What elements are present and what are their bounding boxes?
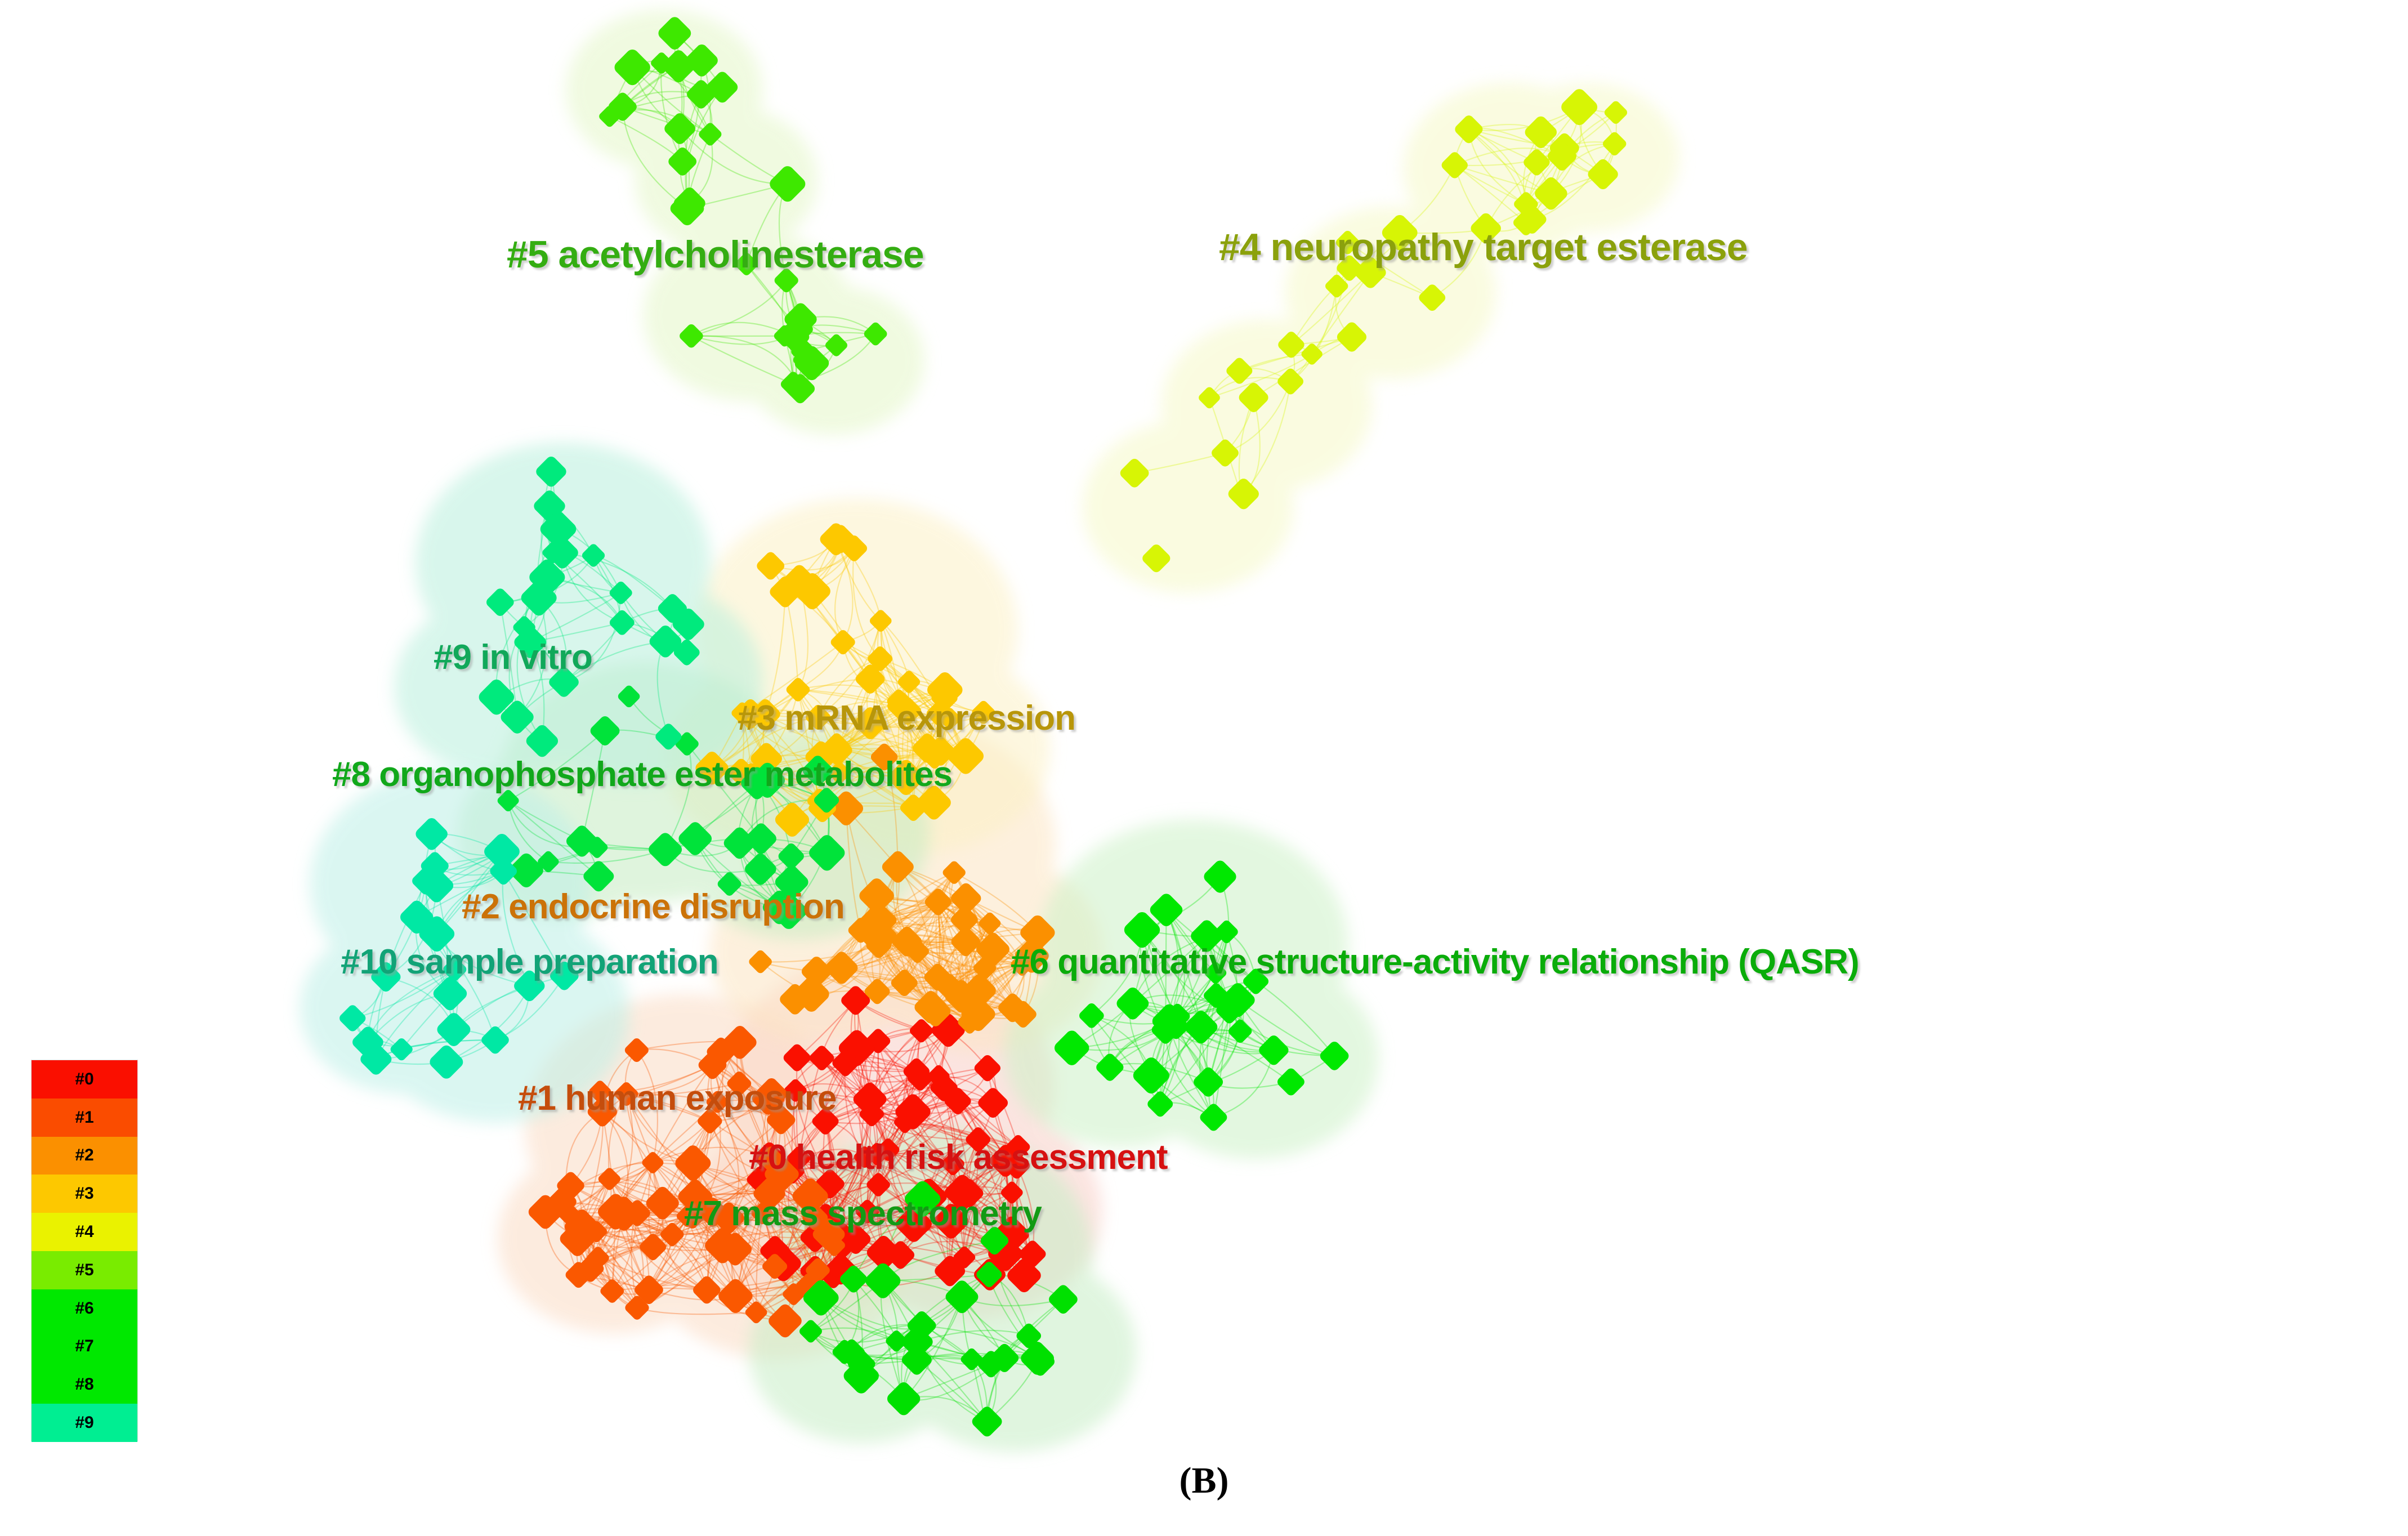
cluster-color-legend: #0#1#2#3#4#5#6#7#8#9 [31,1060,138,1441]
legend-item-label: #7 [75,1338,93,1355]
figure-caption: (B) [0,1459,2408,1502]
cluster-hull-9 [394,443,763,785]
legend-item-cluster-9[interactable]: #9 [32,1404,137,1442]
legend-item-cluster-6[interactable]: #6 [32,1289,137,1328]
legend-item-label: #4 [75,1224,93,1240]
legend-item-cluster-1[interactable]: #1 [32,1099,137,1137]
legend-item-label: #0 [75,1071,93,1088]
legend-item-cluster-5[interactable]: #5 [32,1251,137,1289]
legend-item-label: #5 [75,1262,93,1279]
legend-item-cluster-3[interactable]: #3 [32,1175,137,1213]
legend-item-cluster-0[interactable]: #0 [32,1060,137,1099]
legend-item-label: #8 [75,1376,93,1393]
legend-item-label: #9 [75,1414,93,1431]
legend-item-cluster-2[interactable]: #2 [32,1137,137,1175]
legend-item-label: #2 [75,1147,93,1164]
network-canvas [0,0,2408,1536]
legend-item-label: #6 [75,1300,93,1317]
legend-item-cluster-4[interactable]: #4 [32,1213,137,1251]
legend-item-label: #1 [75,1109,93,1126]
legend-item-cluster-8[interactable]: #8 [32,1365,137,1404]
cluster-hull-4 [1083,83,1679,593]
legend-item-label: #3 [75,1185,93,1202]
cluster-map-figure: #5 acetylcholinesterase #4 neuropathy ta… [0,0,2408,1536]
legend-item-cluster-7[interactable]: #7 [32,1328,137,1366]
